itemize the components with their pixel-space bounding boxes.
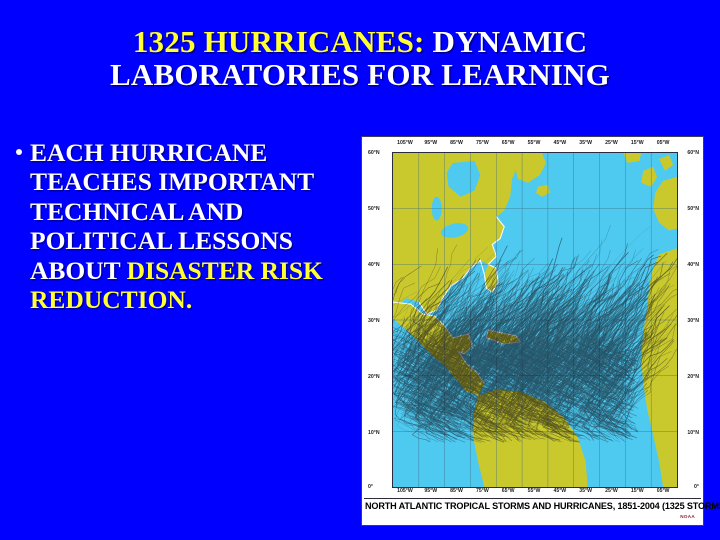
lon-tick-label: 85°W bbox=[450, 488, 463, 494]
lon-tick-label: 15°W bbox=[631, 140, 644, 146]
caption-divider bbox=[364, 498, 701, 499]
lat-label-left-40n: 40°N bbox=[368, 262, 380, 268]
lon-tick-label: 05°W bbox=[657, 488, 670, 494]
lon-tick-label: 65°W bbox=[502, 488, 515, 494]
lon-tick-label: 05°W bbox=[657, 140, 670, 146]
title-line-1: 1325 HURRICANES: DYNAMIC bbox=[40, 26, 680, 59]
lat-label-left-0: 0° bbox=[368, 484, 373, 490]
lat-label-left-10n: 10°N bbox=[368, 430, 380, 436]
lon-tick-label: 55°W bbox=[528, 488, 541, 494]
lat-label-right-20n: 20°N bbox=[687, 374, 699, 380]
title-line-1-rest: DYNAMIC bbox=[425, 24, 588, 59]
lat-label-right-10n: 10°N bbox=[687, 430, 699, 436]
map-plot-area bbox=[392, 152, 678, 488]
map-credit-noaa: NOAA bbox=[680, 514, 695, 519]
body-content: EACH HURRICANE TEACHES IMPORTANT TECHNIC… bbox=[8, 138, 352, 315]
page-title: 1325 HURRICANES: DYNAMIC LABORATORIES FO… bbox=[40, 26, 680, 92]
storm-tracks-layer bbox=[393, 153, 677, 487]
lon-tick-label: 45°W bbox=[553, 488, 566, 494]
lat-label-right-30n: 30°N bbox=[687, 318, 699, 324]
lon-tick-label: 55°W bbox=[528, 140, 541, 146]
lon-tick-label: 15°W bbox=[631, 488, 644, 494]
list-item: EACH HURRICANE TEACHES IMPORTANT TECHNIC… bbox=[8, 138, 352, 315]
lat-label-left-50n: 50°N bbox=[368, 206, 380, 212]
lat-label-right-40n: 40°N bbox=[687, 262, 699, 268]
lat-label-left-20n: 20°N bbox=[368, 374, 380, 380]
lon-tick-label: 85°W bbox=[450, 140, 463, 146]
lon-tick-label: 35°W bbox=[579, 488, 592, 494]
lat-label-right-0: 0° bbox=[694, 484, 699, 490]
title-accent-text: 1325 HURRICANES: bbox=[133, 24, 425, 59]
lon-tick-label: 95°W bbox=[424, 488, 437, 494]
lon-tick-label: 25°W bbox=[605, 488, 618, 494]
title-line-2: LABORATORIES FOR LEARNING bbox=[40, 59, 680, 92]
lon-tick-label: 95°W bbox=[424, 140, 437, 146]
lon-tick-label: 65°W bbox=[502, 140, 515, 146]
lon-tick-label: 75°W bbox=[476, 488, 489, 494]
lon-tick-label: 25°W bbox=[605, 140, 618, 146]
bullet-text: EACH HURRICANE TEACHES IMPORTANT TECHNIC… bbox=[30, 138, 352, 315]
lon-tick-label: 105°W bbox=[397, 488, 413, 494]
slide-canvas: 1325 HURRICANES: DYNAMIC LABORATORIES FO… bbox=[0, 0, 720, 540]
lon-tick-label: 105°W bbox=[397, 140, 413, 146]
lon-tick-label: 45°W bbox=[553, 140, 566, 146]
lat-label-left-60n: 60°N bbox=[368, 150, 380, 156]
bullet-dot-icon bbox=[8, 138, 30, 155]
lat-label-right-60n: 60°N bbox=[687, 150, 699, 156]
longitude-axis-top: 105°W95°W85°W75°W65°W55°W45°W35°W25°W15°… bbox=[392, 140, 676, 152]
hurricane-track-map-figure: 105°W95°W85°W75°W65°W55°W45°W35°W25°W15°… bbox=[361, 136, 704, 526]
lat-label-right-50n: 50°N bbox=[687, 206, 699, 212]
lon-tick-label: 35°W bbox=[579, 140, 592, 146]
lat-label-left-30n: 30°N bbox=[368, 318, 380, 324]
map-caption: NORTH ATLANTIC TROPICAL STORMS AND HURRI… bbox=[365, 501, 700, 511]
lon-tick-label: 75°W bbox=[476, 140, 489, 146]
